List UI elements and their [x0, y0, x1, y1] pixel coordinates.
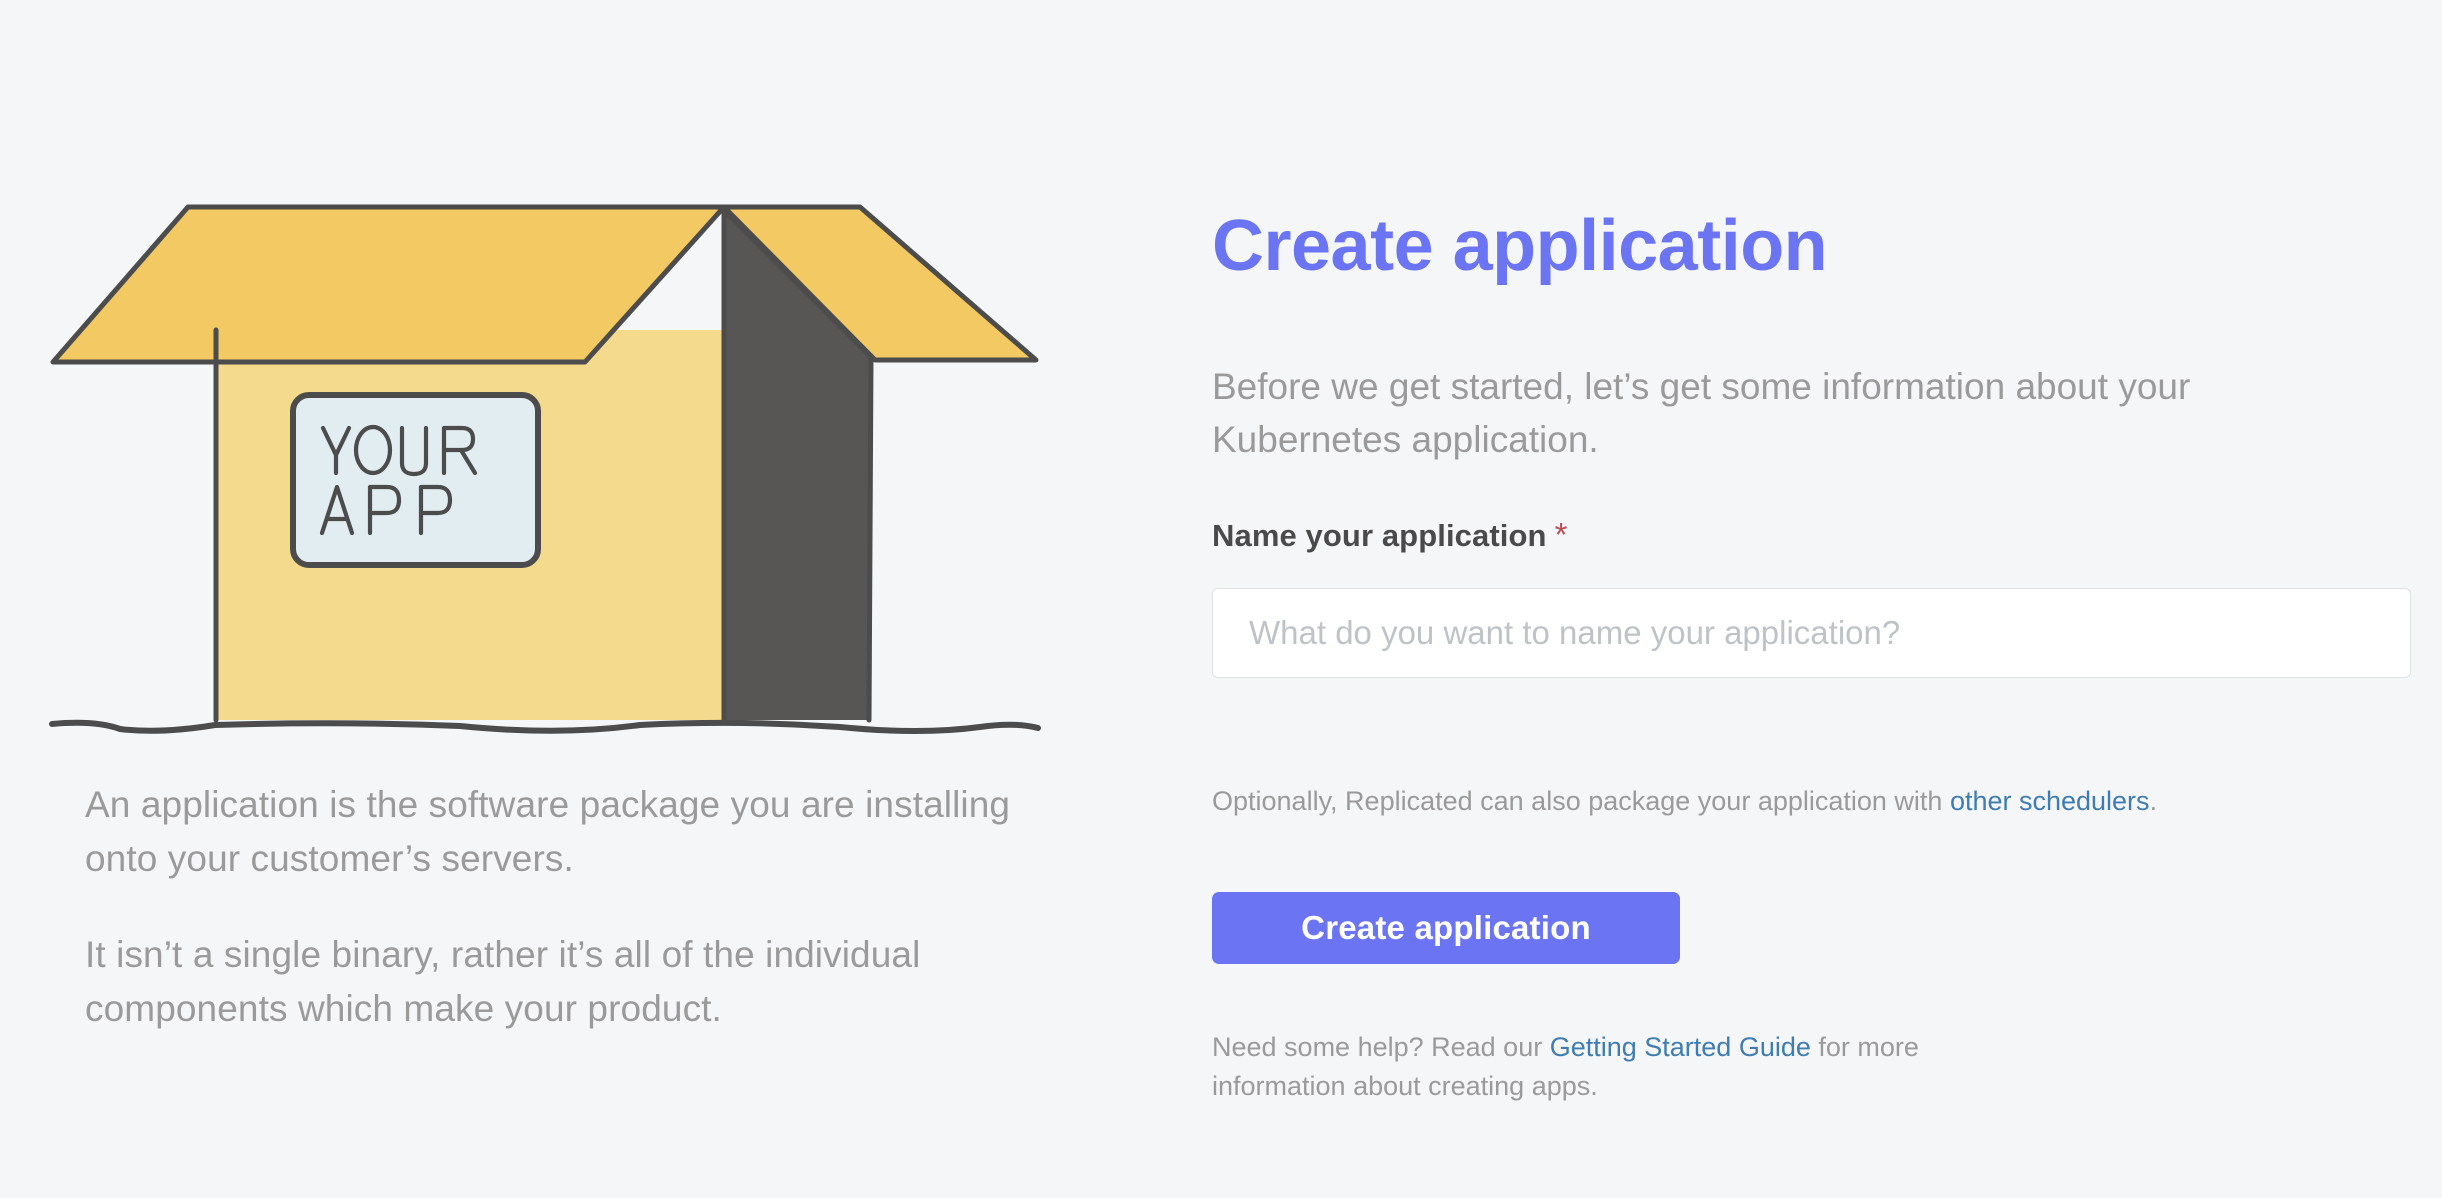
create-application-page: An application is the software package y…	[0, 0, 2442, 1198]
box-side-right-edge	[869, 356, 871, 720]
create-application-button[interactable]: Create application	[1212, 892, 1680, 964]
left-paragraph-2: It isn’t a single binary, rather it’s al…	[85, 928, 1015, 1036]
optional-note-suffix: .	[2150, 786, 2158, 816]
application-name-input[interactable]	[1212, 588, 2411, 678]
cardboard-box-illustration	[40, 180, 1050, 755]
getting-started-guide-link[interactable]: Getting Started Guide	[1550, 1032, 1811, 1062]
page-title: Create application	[1212, 210, 1827, 282]
box-sticker	[293, 395, 538, 565]
left-info-column: An application is the software package y…	[0, 0, 1140, 1198]
optional-schedulers-note: Optionally, Replicated can also package …	[1212, 783, 2157, 821]
ground-line	[52, 723, 1038, 731]
name-field-label: Name your application*	[1212, 518, 1568, 554]
help-note: Need some help? Read our Getting Started…	[1212, 1028, 1972, 1106]
left-description: An application is the software package y…	[85, 778, 1015, 1036]
name-field-label-text: Name your application	[1212, 518, 1547, 553]
optional-note-prefix: Optionally, Replicated can also package …	[1212, 786, 1950, 816]
other-schedulers-link[interactable]: other schedulers	[1950, 786, 2150, 816]
create-application-form-column: Create application Before we get started…	[1212, 0, 2412, 1198]
left-paragraph-1: An application is the software package y…	[85, 778, 1015, 886]
form-intro-text: Before we get started, let’s get some in…	[1212, 360, 2342, 467]
required-asterisk: *	[1555, 516, 1568, 553]
help-note-prefix: Need some help? Read our	[1212, 1032, 1550, 1062]
